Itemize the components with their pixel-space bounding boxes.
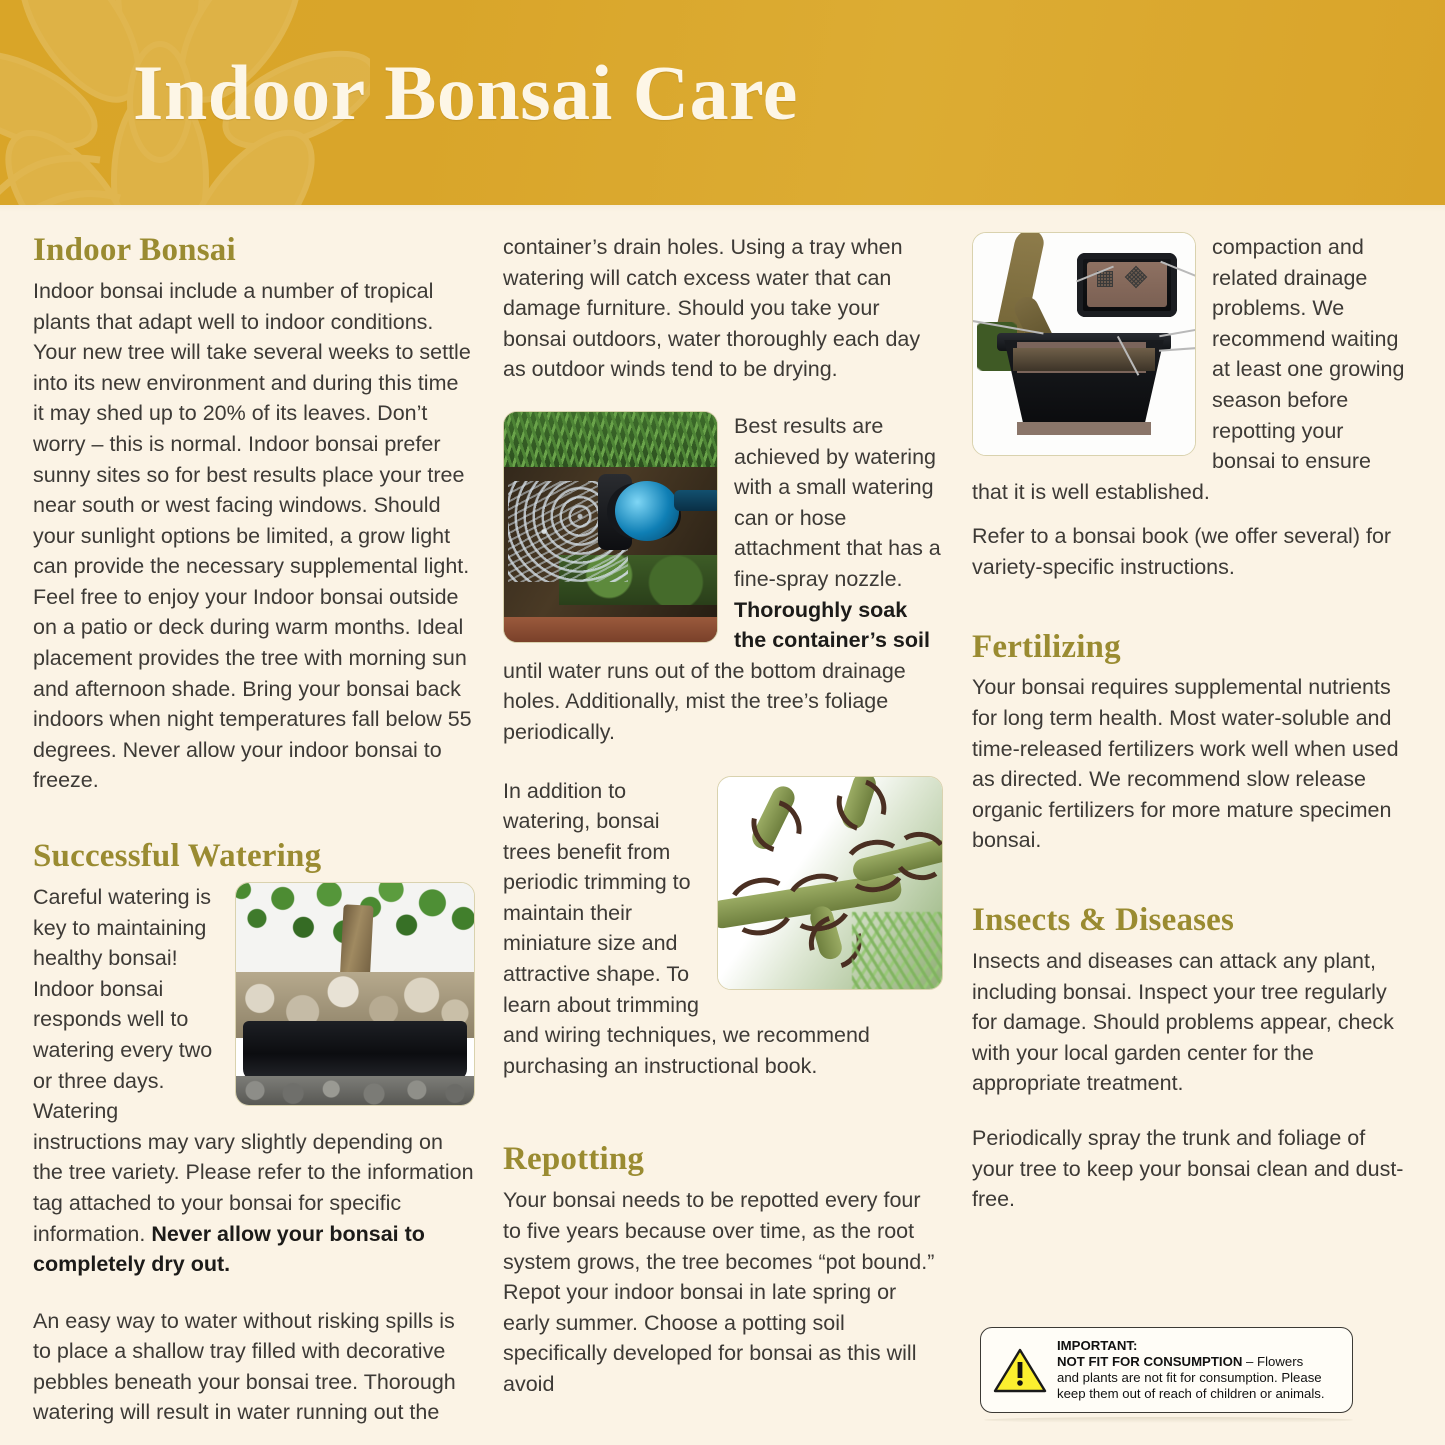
image-jade-bonsai xyxy=(235,882,475,1106)
warning-text: IMPORTANT: NOT FIT FOR CONSUMPTION – Flo… xyxy=(1057,1338,1325,1403)
page-root: Indoor Bonsai Care Indoor Bonsai Indoor … xyxy=(0,0,1445,1445)
image-repotting xyxy=(972,232,1196,456)
warning-line-1: IMPORTANT: xyxy=(1057,1338,1325,1354)
paragraph-fertilizing: Your bonsai requires supplemental nutrie… xyxy=(972,672,1412,856)
page-header: Indoor Bonsai Care xyxy=(0,0,1445,205)
image-watering-nozzle xyxy=(503,411,718,643)
warning-triangle-icon xyxy=(993,1347,1047,1394)
header-bottom-edge xyxy=(0,205,1445,212)
heading-indoor-bonsai: Indoor Bonsai xyxy=(33,232,475,270)
heading-insects-diseases: Insects & Diseases xyxy=(972,902,1412,940)
heading-fertilizing: Fertilizing xyxy=(972,629,1412,667)
column-left: Indoor Bonsai Indoor bonsai include a nu… xyxy=(33,232,475,1428)
best-results-tail: until water runs out of the bottom drain… xyxy=(503,659,906,744)
paragraph-watering-b: An easy way to water without risking spi… xyxy=(33,1306,475,1428)
image-wired-branch xyxy=(717,776,943,990)
paragraph-indoor-bonsai: Indoor bonsai include a number of tropic… xyxy=(33,276,475,796)
heading-repotting: Repotting xyxy=(503,1141,943,1179)
column-right: compaction and related drainage problems… xyxy=(972,232,1412,1215)
paragraph-insects-b: Periodically spray the trunk and foliage… xyxy=(972,1123,1412,1215)
warning-line-3: and plants are not fit for consumption. … xyxy=(1057,1370,1325,1386)
column-middle: container’s drain holes. Using a tray wh… xyxy=(503,232,943,1400)
paragraph-insects-a: Insects and diseases can attack any plan… xyxy=(972,946,1412,1099)
warning-line-2-rest: – Flowers xyxy=(1242,1354,1303,1369)
paragraph-drain-holes: container’s drain holes. Using a tray wh… xyxy=(503,232,943,385)
warning-box: IMPORTANT: NOT FIT FOR CONSUMPTION – Flo… xyxy=(980,1327,1353,1413)
paragraph-repotting: Your bonsai needs to be repotted every f… xyxy=(503,1185,943,1399)
best-results-bold: Thoroughly soak the container’s soil xyxy=(734,598,930,653)
warning-line-2-bold: NOT FIT FOR CONSUMPTION xyxy=(1057,1354,1242,1369)
best-results-normal: Best results are achieved by watering wi… xyxy=(734,414,941,591)
page-title: Indoor Bonsai Care xyxy=(133,54,798,132)
heading-successful-watering: Successful Watering xyxy=(33,838,475,876)
warning-box-shadow xyxy=(984,1417,1353,1423)
warning-line-4: keep them out of reach of children or an… xyxy=(1057,1386,1325,1402)
paragraph-refer-book: Refer to a bonsai book (we offer several… xyxy=(972,521,1412,582)
